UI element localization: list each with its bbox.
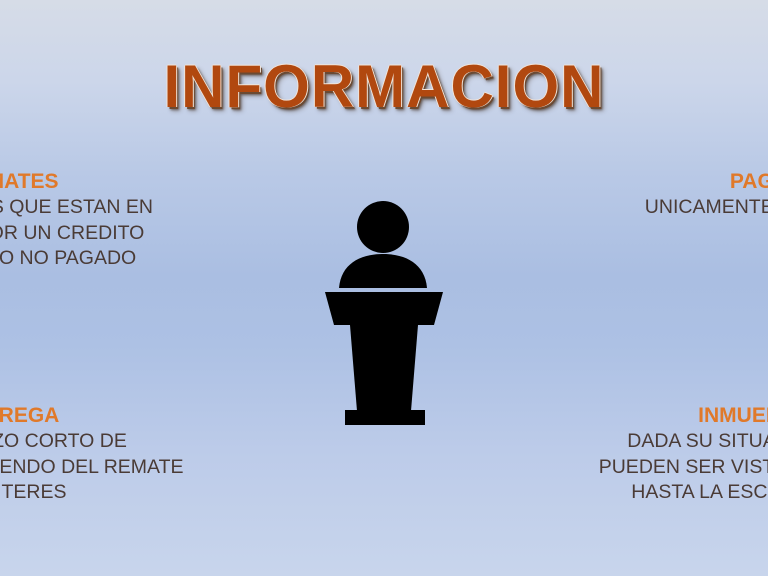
text-block-entrega: ENTREGA EN UN PLAZO CORTO DE TIEMPO DEPE…	[0, 404, 218, 506]
block-line-remates-2: GARANTIA POR UN CREDITO	[0, 221, 218, 247]
slide-canvas: INFORMACION REMATES PROPIEDADES QUE ESTA…	[0, 0, 768, 576]
block-line-inmuebles-2: PUEDEN SER VISTOS POR FUERA	[550, 455, 768, 481]
text-block-inmuebles: INMUEBLES DADA SU SITUACION LEGAL PUEDEN…	[550, 404, 768, 506]
text-block-pago: PAGO UNICAMENTE CONTADO	[550, 170, 768, 221]
block-line-remates-1: PROPIEDADES QUE ESTAN EN	[0, 195, 218, 221]
block-heading-inmuebles: INMUEBLES	[550, 404, 768, 429]
page-title: INFORMACION	[0, 52, 768, 121]
block-line-entrega-1: EN UN PLAZO CORTO DE	[0, 429, 218, 455]
block-line-remates-3: HIPOTECARIO NO PAGADO	[0, 246, 218, 272]
block-line-entrega-3: DE INTERES	[0, 480, 218, 506]
block-heading-remates: REMATES	[0, 170, 218, 195]
podium-speaker-icon	[310, 196, 460, 428]
block-heading-pago: PAGO	[550, 170, 768, 195]
block-heading-entrega: ENTREGA	[0, 404, 218, 429]
block-line-entrega-2: TIEMPO DEPENDIENDO DEL REMATE	[0, 455, 218, 481]
text-block-remates: REMATES PROPIEDADES QUE ESTAN EN GARANTI…	[0, 170, 218, 272]
block-line-inmuebles-3: HASTA LA ESCRITURACION	[550, 480, 768, 506]
block-line-pago-1: UNICAMENTE CONTADO	[550, 195, 768, 221]
block-line-inmuebles-1: DADA SU SITUACION LEGAL	[550, 429, 768, 455]
